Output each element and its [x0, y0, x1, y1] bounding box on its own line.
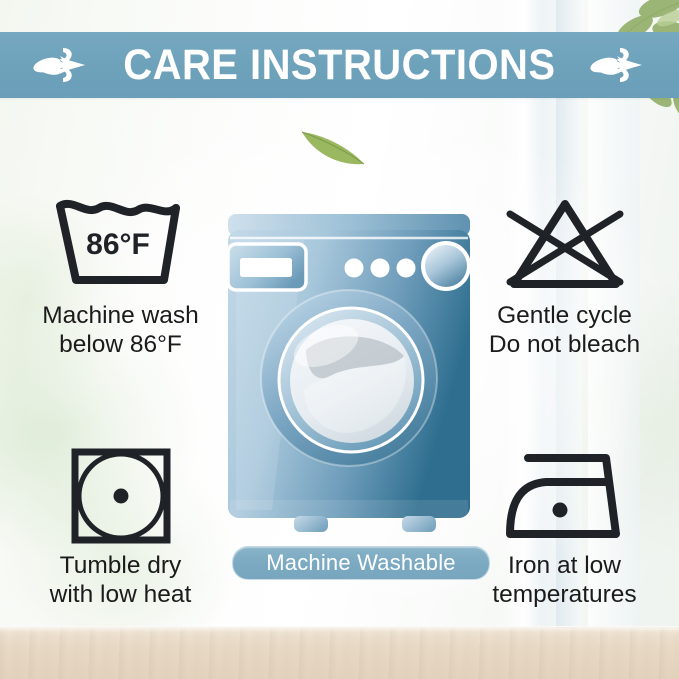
washer-foot-left [294, 516, 328, 532]
badge-label: Machine Washable [266, 552, 455, 574]
wash-tub-icon: 86°F [46, 196, 196, 296]
wooden-table-surface [0, 628, 679, 679]
care-instructions-infographic: CARE INSTRUCTIONS 86°F Machine wash belo… [0, 0, 679, 679]
fleur-de-lis-right-icon [590, 42, 646, 88]
control-knob [421, 241, 471, 291]
page-title: CARE INSTRUCTIONS [123, 44, 555, 87]
machine-washable-badge: Machine Washable [232, 546, 490, 580]
instruction-label-machine-wash: Machine wash below 86°F [42, 302, 199, 359]
washer-foot-right [402, 516, 436, 532]
instruction-machine-wash: 86°F Machine wash below 86°F [8, 196, 233, 359]
washing-machine-illustration [206, 200, 486, 540]
indicator-lights [345, 259, 416, 278]
floating-leaf-icon [298, 126, 368, 168]
instruction-label-tumble-dry: Tumble dry with low heat [50, 552, 192, 609]
do-not-bleach-triangle-icon [490, 196, 640, 296]
washer-door [261, 290, 437, 466]
instruction-tumble-dry: Tumble dry with low heat [8, 446, 233, 609]
tumble-dry-low-icon [46, 446, 196, 546]
detergent-drawer [228, 244, 306, 290]
header-banner: CARE INSTRUCTIONS [0, 32, 679, 98]
fleur-de-lis-left-icon [33, 42, 89, 88]
wash-temperature-value: 86°F [86, 228, 150, 261]
instruction-label-gentle-cycle: Gentle cycle Do not bleach [489, 302, 640, 359]
iron-low-temperature-icon [490, 446, 640, 546]
instruction-label-iron: Iron at low temperatures [492, 552, 636, 609]
